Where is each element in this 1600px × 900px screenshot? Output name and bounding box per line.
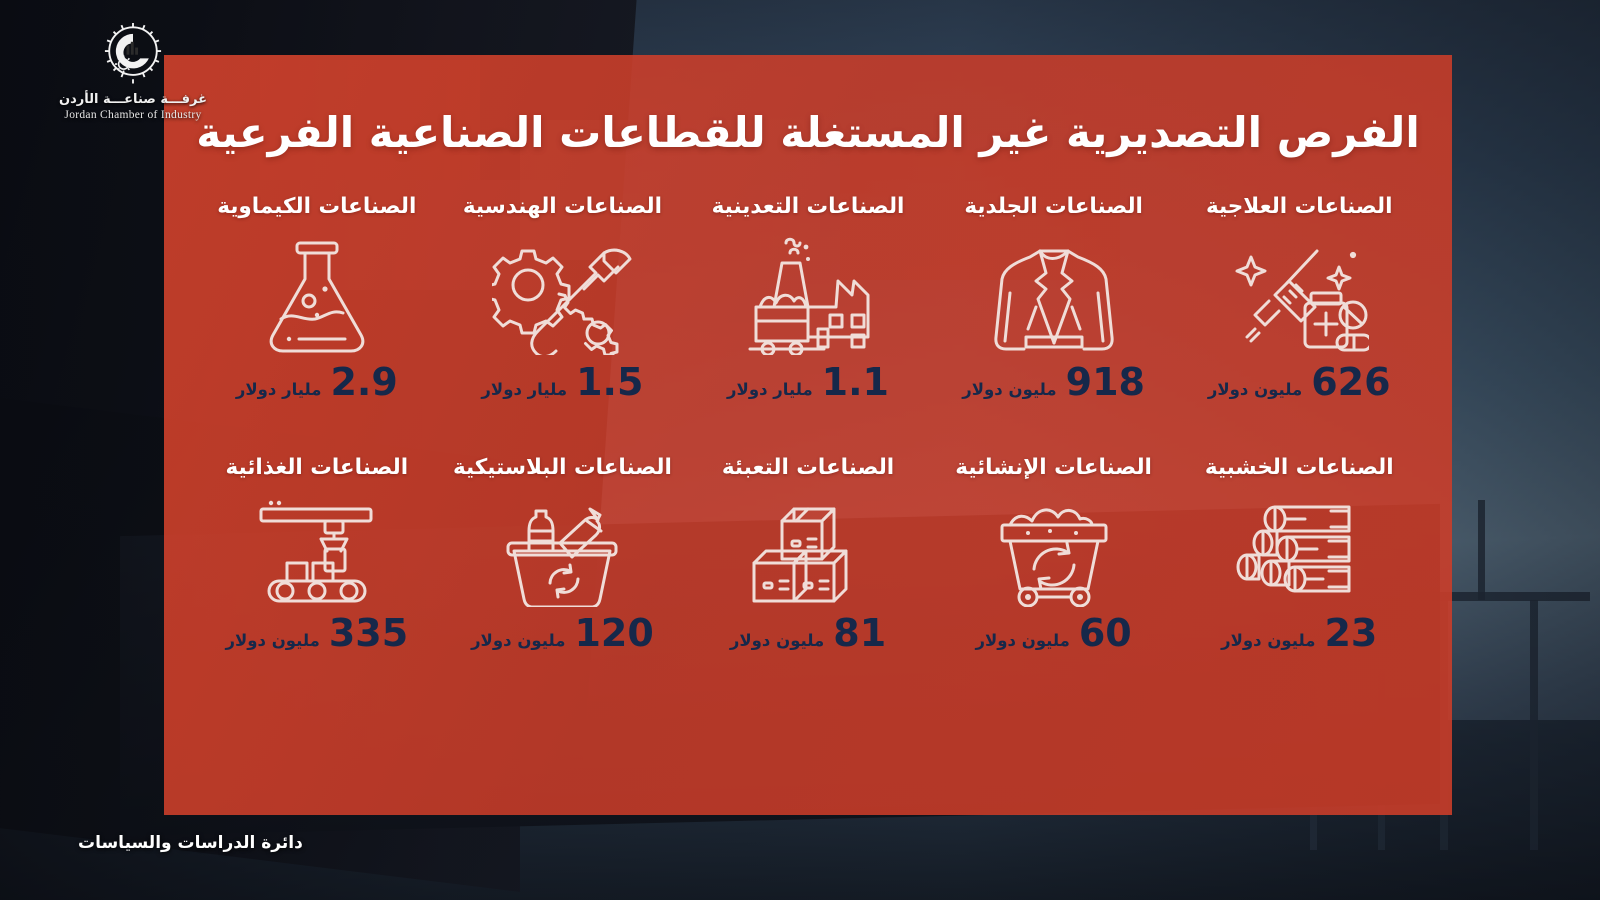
stacked-boxes-icon bbox=[685, 496, 931, 608]
value-number: 120 bbox=[574, 614, 653, 652]
sector-card-wood[interactable]: الصناعات الخشبية bbox=[1176, 455, 1422, 652]
sector-card-plastic[interactable]: الصناعات البلاستيكية bbox=[440, 455, 686, 652]
value-unit: مليار دولار bbox=[727, 380, 813, 399]
mine-cart-recycle-icon bbox=[931, 496, 1177, 608]
sector-card-pharmaceutical[interactable]: الصناعات العلاجية bbox=[1176, 194, 1422, 401]
sector-label: الصناعات الخشبية bbox=[1205, 455, 1394, 480]
sector-value: 23 مليون دولار bbox=[1221, 614, 1377, 652]
value-unit: مليون دولار bbox=[962, 380, 1056, 399]
sector-label: الصناعات الهندسية bbox=[463, 194, 662, 219]
sector-label: الصناعات التعبئة bbox=[722, 455, 894, 480]
value-unit: مليون دولار bbox=[975, 631, 1069, 650]
value-number: 918 bbox=[1066, 363, 1145, 401]
sector-card-chemical[interactable]: الصناعات الكيماوية 2.9 مليا bbox=[194, 194, 440, 401]
value-unit: مليون دولار bbox=[1208, 380, 1302, 399]
sector-label: الصناعات الكيماوية bbox=[217, 194, 416, 219]
sector-label: الصناعات العلاجية bbox=[1206, 194, 1393, 219]
value-unit: مليون دولار bbox=[471, 631, 565, 650]
conveyor-robot-arm-icon bbox=[194, 496, 440, 608]
recycle-bin-bottles-icon bbox=[440, 496, 686, 608]
flask-icon bbox=[194, 235, 440, 357]
value-number: 81 bbox=[833, 614, 886, 652]
infographic-panel: الفرص التصديرية غير المستغلة للقطاعات ال… bbox=[164, 55, 1452, 815]
sector-value: 81 مليون دولار bbox=[730, 614, 886, 652]
sector-grid-row-1: الصناعات العلاجية bbox=[164, 194, 1452, 401]
value-number: 1.1 bbox=[822, 363, 889, 401]
value-number: 23 bbox=[1324, 614, 1377, 652]
value-number: 626 bbox=[1311, 363, 1390, 401]
page-title: الفرص التصديرية غير المستغلة للقطاعات ال… bbox=[164, 107, 1452, 160]
sector-value: 2.9 مليار دولار bbox=[236, 363, 398, 401]
value-unit: مليون دولار bbox=[730, 631, 824, 650]
sector-card-leather[interactable]: الصناعات الجلدية bbox=[931, 194, 1177, 401]
value-number: 2.9 bbox=[330, 363, 397, 401]
logo-arabic-name: غرفـــة صناعـــة الأردن bbox=[59, 92, 207, 107]
value-unit: مليار دولار bbox=[236, 380, 322, 399]
sector-card-food[interactable]: الصناعات الغذائية bbox=[194, 455, 440, 652]
sector-label: الصناعات الجلدية bbox=[964, 194, 1143, 219]
sector-grid-row-2: الصناعات الخشبية bbox=[164, 455, 1452, 652]
value-unit: مليون دولار bbox=[225, 631, 319, 650]
sector-card-packaging[interactable]: الصناعات التعبئة bbox=[685, 455, 931, 652]
sector-label: الصناعات التعدينية bbox=[712, 194, 905, 219]
sector-value: 918 مليون دولار bbox=[962, 363, 1145, 401]
jordan-chamber-logo: غرفـــة صناعـــة الأردن Jordan Chamber o… bbox=[28, 18, 238, 123]
sector-label: الصناعات الإنشائية bbox=[955, 455, 1152, 480]
value-unit: مليون دولار bbox=[1221, 631, 1315, 650]
sector-card-construction[interactable]: الصناعات الإنشائية bbox=[931, 455, 1177, 652]
logo-english-name: Jordan Chamber of Industry bbox=[64, 109, 201, 121]
leather-jacket-icon bbox=[931, 235, 1177, 357]
sector-label: الصناعات الغذائية bbox=[226, 455, 409, 480]
footer-department: دائرة الدراسات والسياسات bbox=[78, 833, 303, 853]
gears-wrench-icon bbox=[440, 235, 686, 357]
sector-value: 626 مليون دولار bbox=[1208, 363, 1391, 401]
sector-value: 1.5 مليار دولار bbox=[481, 363, 643, 401]
gear-factory-logo-icon bbox=[96, 18, 170, 90]
sector-card-mining[interactable]: الصناعات التعدينية bbox=[685, 194, 931, 401]
value-number: 1.5 bbox=[576, 363, 643, 401]
sector-value: 120 مليون دولار bbox=[471, 614, 654, 652]
mining-factory-icon bbox=[685, 235, 931, 357]
value-unit: مليار دولار bbox=[481, 380, 567, 399]
value-number: 335 bbox=[329, 614, 408, 652]
syringe-pills-icon bbox=[1176, 235, 1422, 357]
sector-card-engineering[interactable]: الصناعات الهندسية bbox=[440, 194, 686, 401]
sector-value: 60 مليون دولار bbox=[975, 614, 1131, 652]
sector-label: الصناعات البلاستيكية bbox=[453, 455, 672, 480]
value-number: 60 bbox=[1079, 614, 1132, 652]
wood-logs-icon bbox=[1176, 496, 1422, 608]
sector-value: 335 مليون دولار bbox=[225, 614, 408, 652]
sector-value: 1.1 مليار دولار bbox=[727, 363, 889, 401]
